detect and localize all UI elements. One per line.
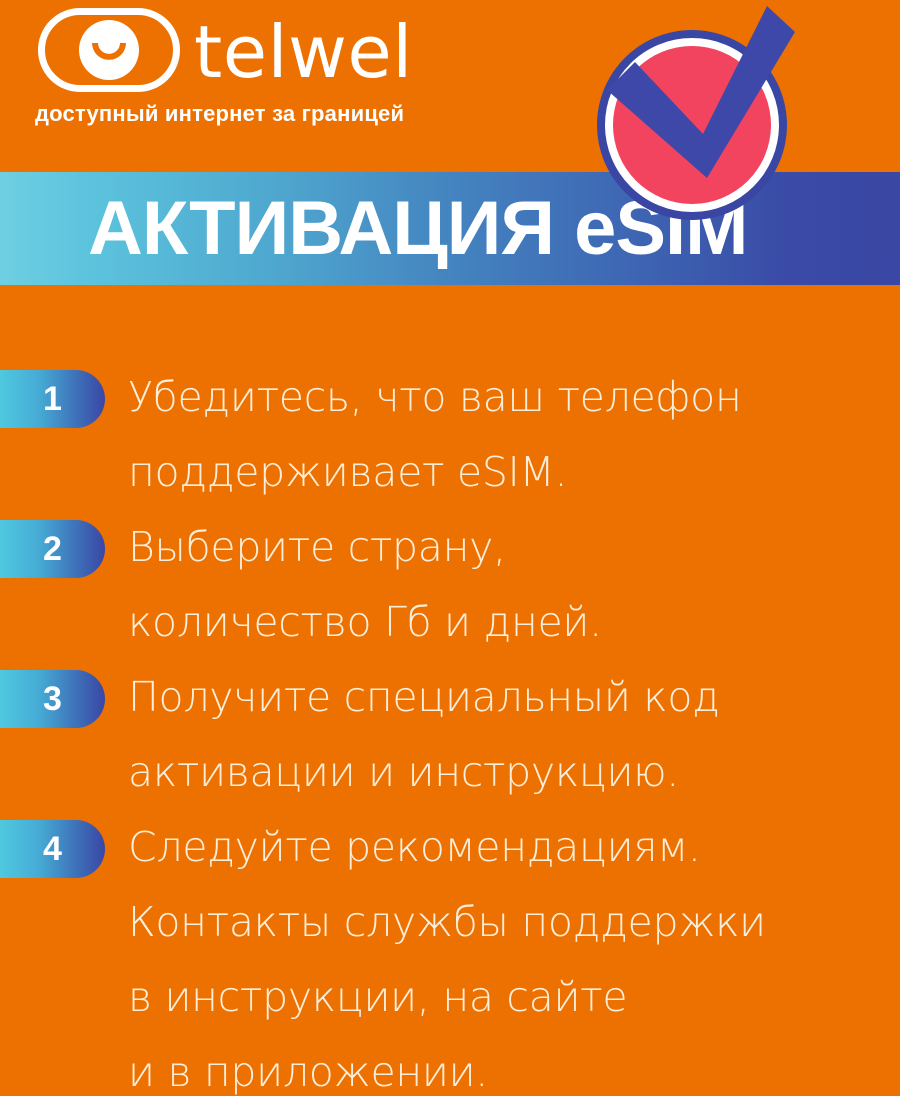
brand-tagline: доступный интернет за границей <box>35 101 404 127</box>
step-2-line-2: количество Гб и дней. <box>128 602 602 643</box>
brand-wordmark: telwel <box>194 16 413 88</box>
step-number-badge-4: 4 <box>0 820 105 878</box>
step-4-line-2: Контакты службы поддержки <box>128 902 766 943</box>
step-number-badge-2: 2 <box>0 520 105 578</box>
step-4-line-1: Следуйте рекомендациям. <box>128 827 701 868</box>
step-4-line-4: и в приложении. <box>128 1052 488 1093</box>
step-number-badge-1: 1 <box>0 370 105 428</box>
check-circle-icon <box>595 28 790 223</box>
esim-activation-poster: telwel доступный интернет за границей АК… <box>0 0 900 1096</box>
telwel-smile-icon <box>38 8 180 92</box>
step-number-badge-3: 3 <box>0 670 105 728</box>
step-1-line-1: Убедитесь, что ваш телефон <box>128 377 741 418</box>
step-2-line-1: Выберите страну, <box>128 527 506 568</box>
brand-logo: telwel <box>38 8 413 92</box>
steps-list: 1 Убедитесь, что ваш телефон поддерживае… <box>0 285 900 1096</box>
step-3-line-1: Получите специальный код <box>128 677 720 718</box>
step-4-line-3: в инструкции, на сайте <box>128 977 627 1018</box>
step-3-line-2: активации и инструкцию. <box>128 752 679 793</box>
step-1-line-2: поддерживает eSIM. <box>128 452 567 493</box>
